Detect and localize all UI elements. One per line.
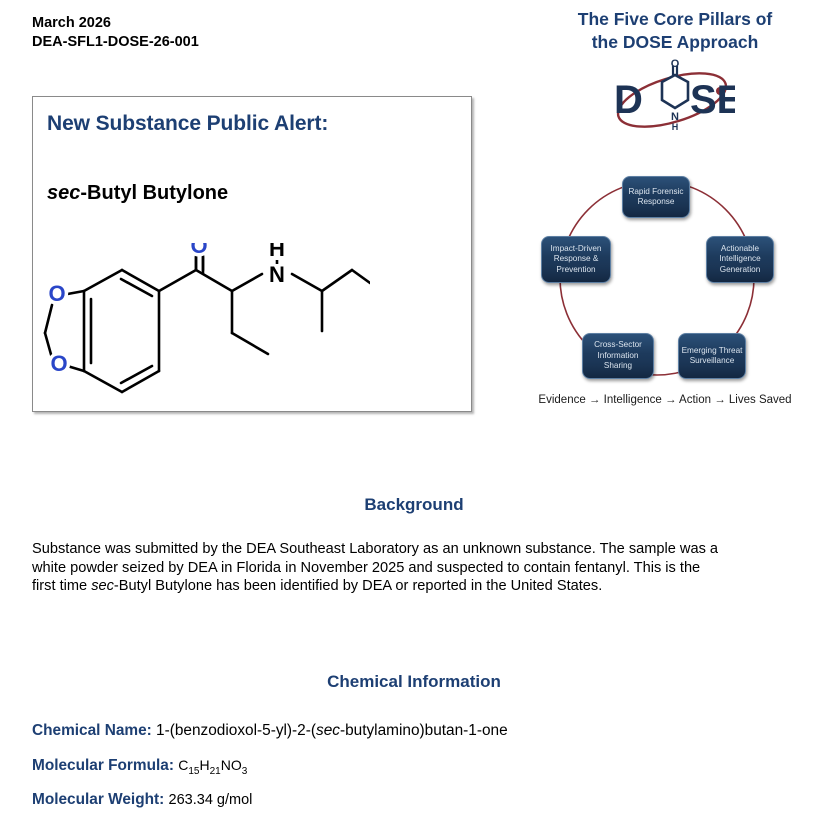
chemical-name-part1: 1-(benzodioxol-5-yl)-2-(	[156, 722, 316, 739]
molecular-weight-value: 263.34 g/mol	[169, 792, 253, 808]
background-text-part2: -Butyl Butylone has been identified by D…	[114, 578, 602, 594]
dioxole-oxygen-top-label: O	[48, 281, 65, 306]
ketone-oxygen-label: O	[190, 243, 207, 258]
pillars-diagram: Rapid Forensic Response Actionable Intel…	[520, 160, 820, 395]
pillar-label: Actionable Intelligence Generation	[709, 244, 771, 276]
formula-oxygen-count: 3	[242, 766, 248, 777]
logo-hexagon-ring	[662, 75, 688, 108]
molecular-weight-row: Molecular Weight: 263.34 g/mol	[32, 791, 252, 809]
header-date: March 2026	[32, 14, 199, 33]
substance-prefix-italic: sec	[47, 182, 80, 204]
pillars-tagline: Evidence → Intelligence → Action → Lives…	[515, 394, 815, 406]
molecular-weight-label: Molecular Weight:	[32, 791, 164, 808]
dose-logo-svg: D O N H SE	[610, 58, 735, 136]
logo-ring-hydrogen: H	[672, 122, 679, 132]
pillar-impact-driven-response-prevention[interactable]: Impact-Driven Response & Prevention	[541, 236, 611, 283]
alert-title: New Substance Public Alert:	[47, 112, 328, 136]
logo-letter-d: D	[614, 78, 643, 122]
dioxole-oxygen-bottom-label: O	[50, 351, 67, 376]
background-paragraph: Substance was submitted by the DEA South…	[32, 540, 722, 596]
background-heading: Background	[0, 495, 828, 515]
pillars-title: The Five Core Pillars of the DOSE Approa…	[530, 8, 820, 54]
chemical-name-label: Chemical Name:	[32, 722, 152, 739]
molecular-formula-value: C15H21NO3	[178, 757, 247, 773]
pillar-emerging-threat-surveillance[interactable]: Emerging Threat Surveillance	[678, 333, 746, 379]
pillar-label: Impact-Driven Response & Prevention	[544, 244, 608, 276]
alert-substance-name: sec-Butyl Butylone	[47, 182, 228, 205]
header-doc-id: DEA-SFL1-DOSE-26-001	[32, 33, 199, 52]
chemical-information-heading: Chemical Information	[0, 672, 828, 692]
logo-letters-se: SE	[690, 78, 735, 122]
substance-name-rest: -Butyl Butylone	[80, 182, 228, 204]
formula-nitrogen: N	[221, 757, 231, 773]
background-text-italic: sec	[91, 578, 114, 594]
formula-carbon: C	[178, 757, 188, 773]
pillar-label: Cross-Sector Information Sharing	[585, 340, 651, 372]
chemical-structure-diagram: O O O O O O N N H H	[40, 243, 370, 403]
chemical-name-value: 1-(benzodioxol-5-yl)-2-(sec-butylamino)b…	[156, 722, 508, 739]
pillar-cross-sector-information-sharing[interactable]: Cross-Sector Information Sharing	[582, 333, 654, 379]
formula-hydrogen-count: 21	[210, 766, 221, 777]
pillar-rapid-forensic-response[interactable]: Rapid Forensic Response	[622, 176, 690, 218]
molecular-formula-row: Molecular Formula: C15H21NO3	[32, 757, 247, 777]
logo-ring-oxygen: O	[671, 58, 680, 70]
chemical-name-part2: -butylamino)butan-1-one	[340, 722, 508, 739]
pillars-title-line1: The Five Core Pillars of	[530, 8, 820, 31]
document-header: March 2026 DEA-SFL1-DOSE-26-001	[32, 14, 199, 52]
pillar-actionable-intelligence-generation[interactable]: Actionable Intelligence Generation	[706, 236, 774, 283]
amine-nitrogen-label: N	[269, 262, 285, 287]
pillar-label: Rapid Forensic Response	[625, 187, 687, 208]
pillar-label: Emerging Threat Surveillance	[681, 346, 743, 367]
pillars-title-line2: the DOSE Approach	[530, 31, 820, 54]
molecular-formula-label: Molecular Formula:	[32, 757, 174, 774]
formula-hydrogen: H	[200, 757, 210, 773]
chemical-name-row: Chemical Name: 1-(benzodioxol-5-yl)-2-(s…	[32, 722, 508, 740]
dose-logo: D O N H SE	[610, 58, 735, 136]
formula-carbon-count: 15	[188, 766, 199, 777]
formula-oxygen: O	[231, 757, 242, 773]
chemical-name-italic: sec	[316, 722, 340, 739]
structure-svg: O O O O O O N N H H	[40, 243, 370, 403]
amine-hydrogen-label: H	[269, 243, 285, 261]
